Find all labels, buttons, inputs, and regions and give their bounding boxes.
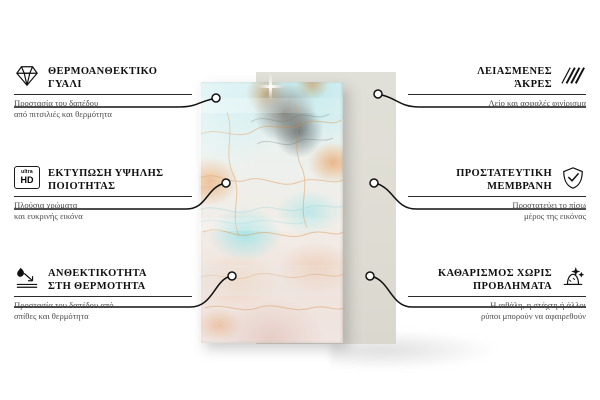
polished-edge-icon — [560, 64, 586, 88]
shield-check-icon — [560, 166, 586, 190]
glass-panel — [199, 82, 343, 343]
feature-title: ΚΑΘΑΡΙΣΜΟΣ ΧΩΡΙΣ ΠΡΟΒΛΗΜΑΤΑ — [438, 266, 552, 293]
feature-easy-cleaning[interactable]: ΚΑΘΑΡΙΣΜΟΣ ΧΩΡΙΣ ΠΡΟΒΛΗΜΑΤΑ Η αιθάλη, η … — [408, 266, 586, 322]
flame-on-surface-icon — [14, 266, 40, 290]
feature-subtitle: Προστασία του δαπέδου από σπίθες και θερ… — [14, 300, 192, 322]
diamond-icon — [14, 64, 40, 88]
feature-title: ΘΕΡΜΟΑΝΘΕΚΤΙΚΟ ΓΥΑΛΙ — [48, 64, 157, 91]
feature-title: ΕΚΤΥΠΩΣΗ ΥΨΗΛΗΣ ΠΟΙΟΤΗΤΑΣ — [48, 166, 163, 193]
sponge-sparkle-icon — [560, 266, 586, 290]
feature-title: ΠΡΟΣΤΑΤΕΥΤΙΚΗ ΜΕΜΒΡΑΝΗ — [456, 166, 552, 193]
feature-protective-membrane[interactable]: ΠΡΟΣΤΑΤΕΥΤΙΚΗ ΜΕΜΒΡΑΝΗ Προστατεύει το πί… — [408, 166, 586, 222]
feature-heat-durability[interactable]: ΑΝΘΕΚΤΙΚΟΤΗΤΑ ΣΤΗ ΘΕΡΜΟΤΗΤΑ Προστασία το… — [14, 266, 192, 322]
feature-subtitle: Προστατεύει το πίσω μέρος της εικόνας — [408, 200, 586, 222]
feature-high-quality-print[interactable]: ultra HD ΕΚΤΥΠΩΣΗ ΥΨΗΛΗΣ ΠΟΙΟΤΗΤΑΣ Πλούσ… — [14, 166, 192, 222]
divider — [408, 94, 586, 95]
feature-subtitle: Προστασία του δαπέδου από πιτσιλιές και … — [14, 98, 192, 120]
ultra-hd-icon: ultra HD — [14, 166, 40, 190]
divider — [14, 94, 192, 95]
feature-polished-edges[interactable]: ΛΕΙΑΣΜΕΝΕΣ ΆΚΡΕΣ Λείο και ασφαλές φινίρι… — [408, 64, 586, 109]
infographic-canvas: ΘΕΡΜΟΑΝΘΕΚΤΙΚΟ ΓΥΑΛΙ Προστασία του δαπέδ… — [0, 0, 600, 400]
divider — [408, 296, 586, 297]
feature-title: ΛΕΙΑΣΜΕΝΕΣ ΆΚΡΕΣ — [477, 64, 552, 91]
glass-edge-highlight — [199, 82, 343, 343]
feature-heat-resistant-glass[interactable]: ΘΕΡΜΟΑΝΘΕΚΤΙΚΟ ΓΥΑΛΙ Προστασία του δαπέδ… — [14, 64, 192, 120]
divider — [14, 196, 192, 197]
feature-subtitle: Πλούσια χρώματα και ευκρινής εικόνα — [14, 200, 192, 222]
divider — [408, 196, 586, 197]
divider — [14, 296, 192, 297]
feature-subtitle: Η αιθάλη, η στάχτη ή άλλοι ρύποι μπορούν… — [408, 300, 586, 322]
feature-title: ΑΝΘΕΚΤΙΚΟΤΗΤΑ ΣΤΗ ΘΕΡΜΟΤΗΤΑ — [48, 266, 147, 293]
feature-subtitle: Λείο και ασφαλές φινίρισμα — [408, 98, 586, 109]
